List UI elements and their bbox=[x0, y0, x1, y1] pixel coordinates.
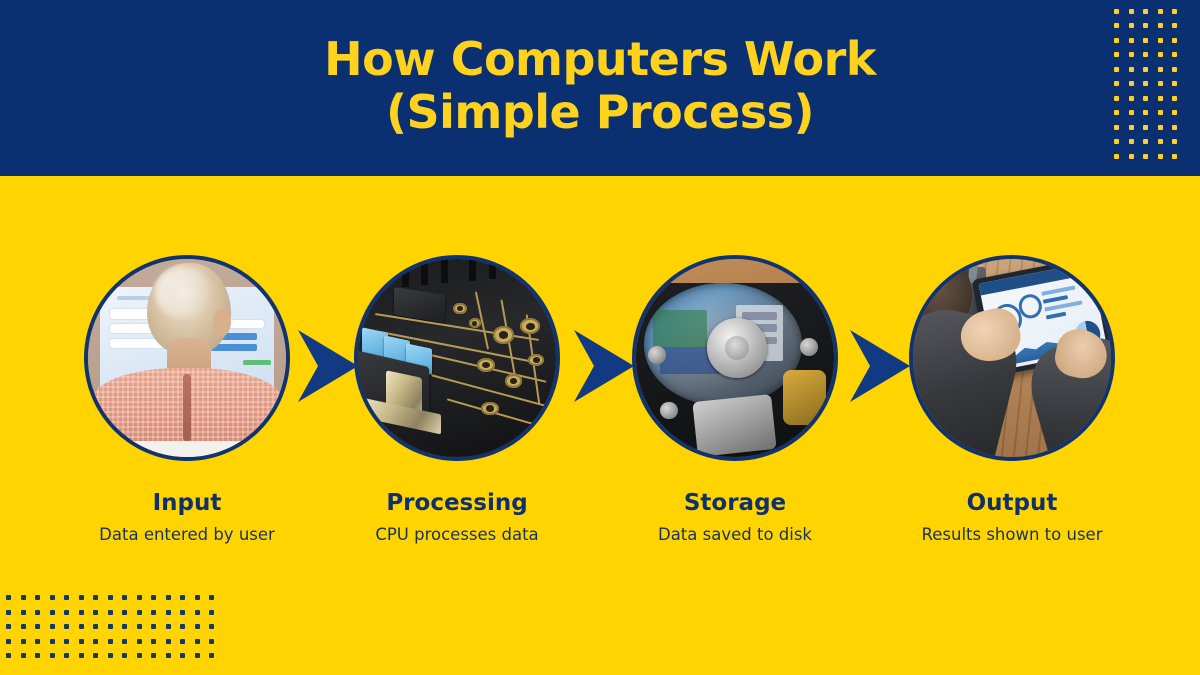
decorative-dot bbox=[21, 624, 26, 629]
decorative-dot bbox=[137, 653, 142, 658]
decorative-dot bbox=[195, 653, 200, 658]
step-input-description: Data entered by user bbox=[72, 525, 302, 545]
decorative-dot bbox=[1114, 154, 1119, 159]
decorative-dot bbox=[1114, 9, 1119, 14]
decorative-dot bbox=[93, 653, 98, 658]
decorative-dot bbox=[1158, 81, 1163, 86]
dot-grid-bottom-left bbox=[6, 595, 222, 667]
decorative-dot bbox=[1158, 154, 1163, 159]
decorative-dot bbox=[93, 624, 98, 629]
decorative-dot bbox=[79, 624, 84, 629]
step-storage-description: Data saved to disk bbox=[620, 525, 850, 545]
decorative-dot bbox=[209, 653, 214, 658]
decorative-dot bbox=[1143, 9, 1148, 14]
decorative-dot bbox=[1129, 52, 1134, 57]
decorative-dot bbox=[108, 624, 113, 629]
decorative-dot bbox=[1158, 96, 1163, 101]
decorative-dot bbox=[1143, 125, 1148, 130]
decorative-dot bbox=[180, 653, 185, 658]
decorative-dot bbox=[1129, 38, 1134, 43]
step-output[interactable]: Output Results shown to user bbox=[897, 255, 1127, 545]
decorative-dot bbox=[1158, 139, 1163, 144]
decorative-dot bbox=[1129, 67, 1134, 72]
decorative-dot bbox=[35, 653, 40, 658]
decorative-dot bbox=[151, 610, 156, 615]
arrow-processing-to-storage bbox=[572, 328, 634, 404]
decorative-dot bbox=[1143, 67, 1148, 72]
header-band: How Computers Work (Simple Process) bbox=[0, 0, 1200, 176]
arrow-storage-to-output bbox=[848, 328, 910, 404]
decorative-dot bbox=[122, 595, 127, 600]
decorative-dot bbox=[64, 595, 69, 600]
decorative-dot bbox=[108, 595, 113, 600]
decorative-dot bbox=[64, 610, 69, 615]
decorative-dot bbox=[1143, 52, 1148, 57]
decorative-dot bbox=[108, 653, 113, 658]
decorative-dot bbox=[6, 595, 11, 600]
decorative-dot bbox=[137, 639, 142, 644]
process-steps-row: Input Data entered by user bbox=[0, 255, 1200, 575]
decorative-dot bbox=[209, 639, 214, 644]
decorative-dot bbox=[122, 653, 127, 658]
decorative-dot bbox=[151, 624, 156, 629]
decorative-dot bbox=[35, 610, 40, 615]
decorative-dot bbox=[6, 639, 11, 644]
decorative-dot bbox=[1114, 52, 1119, 57]
decorative-dot bbox=[21, 639, 26, 644]
decorative-dot bbox=[209, 610, 214, 615]
decorative-dot bbox=[1114, 139, 1119, 144]
decorative-dot bbox=[1129, 96, 1134, 101]
title-line-1: How Computers Work bbox=[0, 36, 1200, 82]
decorative-dot bbox=[1129, 154, 1134, 159]
decorative-dot bbox=[79, 639, 84, 644]
decorative-dot bbox=[50, 624, 55, 629]
decorative-dot bbox=[195, 624, 200, 629]
tablet-dashboard-photo bbox=[913, 259, 1111, 457]
decorative-dot bbox=[1172, 125, 1177, 130]
step-input-image-circle bbox=[84, 255, 290, 461]
step-output-image-circle bbox=[909, 255, 1115, 461]
decorative-dot bbox=[79, 595, 84, 600]
step-input-title: Input bbox=[72, 491, 302, 516]
decorative-dot bbox=[1114, 96, 1119, 101]
decorative-dot bbox=[137, 610, 142, 615]
decorative-dot bbox=[93, 610, 98, 615]
step-output-title: Output bbox=[897, 491, 1127, 516]
step-processing-title: Processing bbox=[342, 491, 572, 516]
decorative-dot bbox=[93, 639, 98, 644]
decorative-dot bbox=[50, 653, 55, 658]
step-storage[interactable]: Storage Data saved to disk bbox=[620, 255, 850, 545]
decorative-dot bbox=[180, 624, 185, 629]
decorative-dot bbox=[1129, 81, 1134, 86]
decorative-dot bbox=[1172, 110, 1177, 115]
decorative-dot bbox=[1143, 139, 1148, 144]
decorative-dot bbox=[50, 639, 55, 644]
decorative-dot bbox=[1129, 139, 1134, 144]
decorative-dot bbox=[64, 653, 69, 658]
step-processing-image-circle bbox=[354, 255, 560, 461]
decorative-dot bbox=[1129, 110, 1134, 115]
decorative-dot bbox=[209, 595, 214, 600]
decorative-dot bbox=[151, 639, 156, 644]
decorative-dot bbox=[1114, 110, 1119, 115]
decorative-dot bbox=[1172, 9, 1177, 14]
decorative-dot bbox=[166, 624, 171, 629]
decorative-dot bbox=[1143, 154, 1148, 159]
decorative-dot bbox=[1172, 154, 1177, 159]
decorative-dot bbox=[1114, 125, 1119, 130]
decorative-dot bbox=[21, 653, 26, 658]
arrow-input-to-processing bbox=[296, 328, 358, 404]
decorative-dot bbox=[1172, 139, 1177, 144]
decorative-dot bbox=[6, 653, 11, 658]
title-line-2: (Simple Process) bbox=[0, 89, 1200, 135]
page-title: How Computers Work (Simple Process) bbox=[0, 36, 1200, 135]
decorative-dot bbox=[180, 610, 185, 615]
decorative-dot bbox=[137, 595, 142, 600]
decorative-dot bbox=[1172, 96, 1177, 101]
decorative-dot bbox=[1129, 23, 1134, 28]
step-output-description: Results shown to user bbox=[897, 525, 1127, 545]
decorative-dot bbox=[6, 610, 11, 615]
decorative-dot bbox=[64, 624, 69, 629]
decorative-dot bbox=[1158, 67, 1163, 72]
step-processing[interactable]: Processing CPU processes data bbox=[342, 255, 572, 545]
decorative-dot bbox=[35, 639, 40, 644]
decorative-dot bbox=[151, 653, 156, 658]
decorative-dot bbox=[1143, 81, 1148, 86]
person-at-computer-photo bbox=[88, 259, 286, 457]
step-input[interactable]: Input Data entered by user bbox=[72, 255, 302, 545]
hard-disk-platter-photo bbox=[636, 259, 834, 457]
decorative-dot bbox=[64, 639, 69, 644]
decorative-dot bbox=[1172, 52, 1177, 57]
decorative-dot bbox=[1158, 110, 1163, 115]
decorative-dot bbox=[1172, 23, 1177, 28]
decorative-dot bbox=[166, 653, 171, 658]
decorative-dot bbox=[1172, 67, 1177, 72]
decorative-dot bbox=[93, 595, 98, 600]
decorative-dot bbox=[122, 610, 127, 615]
decorative-dot bbox=[1114, 81, 1119, 86]
decorative-dot bbox=[1114, 38, 1119, 43]
decorative-dot bbox=[21, 610, 26, 615]
circuit-board-photo bbox=[358, 259, 556, 457]
decorative-dot bbox=[1143, 38, 1148, 43]
decorative-dot bbox=[35, 624, 40, 629]
decorative-dot bbox=[166, 595, 171, 600]
decorative-dot bbox=[1129, 9, 1134, 14]
decorative-dot bbox=[180, 595, 185, 600]
decorative-dot bbox=[166, 639, 171, 644]
decorative-dot bbox=[79, 610, 84, 615]
decorative-dot bbox=[1129, 125, 1134, 130]
decorative-dot bbox=[151, 595, 156, 600]
decorative-dot bbox=[180, 639, 185, 644]
step-processing-description: CPU processes data bbox=[342, 525, 572, 545]
decorative-dot bbox=[1158, 38, 1163, 43]
decorative-dot bbox=[1158, 125, 1163, 130]
decorative-dot bbox=[50, 610, 55, 615]
decorative-dot bbox=[209, 624, 214, 629]
decorative-dot bbox=[50, 595, 55, 600]
slide-canvas: How Computers Work (Simple Process) bbox=[0, 0, 1200, 675]
decorative-dot bbox=[1172, 81, 1177, 86]
decorative-dot bbox=[6, 624, 11, 629]
decorative-dot bbox=[108, 639, 113, 644]
decorative-dot bbox=[1143, 96, 1148, 101]
decorative-dot bbox=[195, 595, 200, 600]
decorative-dot bbox=[195, 610, 200, 615]
decorative-dot bbox=[166, 610, 171, 615]
decorative-dot bbox=[21, 595, 26, 600]
decorative-dot bbox=[1114, 67, 1119, 72]
decorative-dot bbox=[1143, 110, 1148, 115]
decorative-dot bbox=[1143, 23, 1148, 28]
decorative-dot bbox=[35, 595, 40, 600]
decorative-dot bbox=[108, 610, 113, 615]
decorative-dot bbox=[1158, 23, 1163, 28]
decorative-dot bbox=[79, 653, 84, 658]
decorative-dot bbox=[122, 639, 127, 644]
decorative-dot bbox=[137, 624, 142, 629]
decorative-dot bbox=[1114, 23, 1119, 28]
step-storage-image-circle bbox=[632, 255, 838, 461]
decorative-dot bbox=[1158, 9, 1163, 14]
decorative-dot bbox=[122, 624, 127, 629]
decorative-dot bbox=[195, 639, 200, 644]
dot-grid-top-right bbox=[1114, 0, 1192, 166]
decorative-dot bbox=[1158, 52, 1163, 57]
step-storage-title: Storage bbox=[620, 491, 850, 516]
decorative-dot bbox=[1172, 38, 1177, 43]
